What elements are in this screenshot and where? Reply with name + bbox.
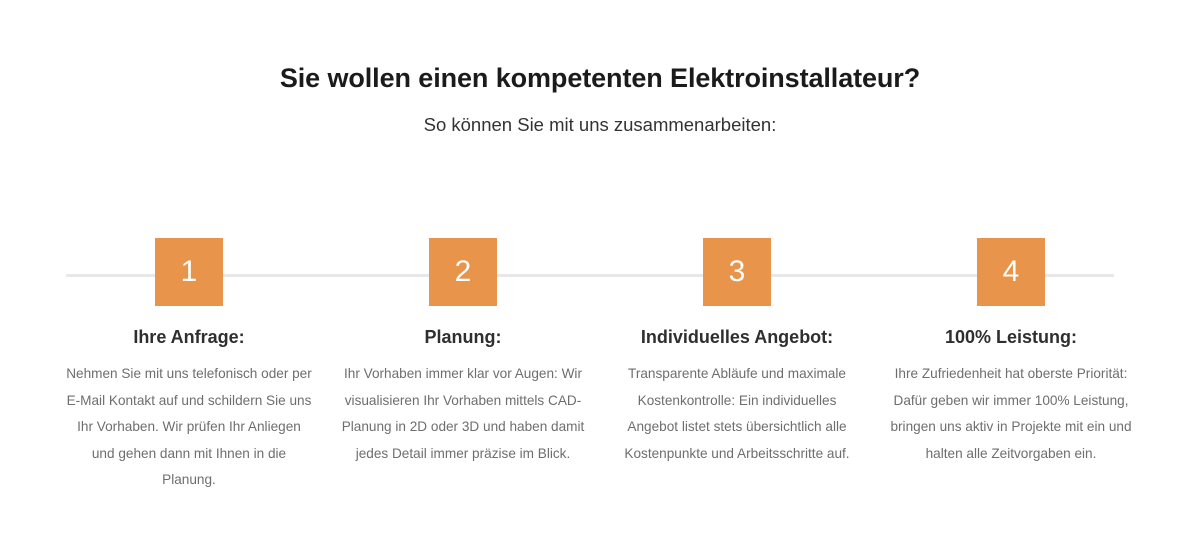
step-heading: Planung: <box>425 306 502 349</box>
step-number-badge-4: 4 <box>977 238 1045 306</box>
step-number-label: 1 <box>181 257 198 287</box>
process-section: Sie wollen einen kompetenten Elektroinst… <box>0 0 1200 537</box>
timeline-steps: 1 Ihre Anfrage: Nehmen Sie mit uns telef… <box>52 238 1148 494</box>
step-number-badge-3: 3 <box>703 238 771 306</box>
step-heading: Ihre Anfrage: <box>133 306 244 349</box>
step-description: Ihre Zufriedenheit hat oberste Priorität… <box>887 349 1135 467</box>
step-description: Ihr Vorhaben immer klar vor Augen: Wir v… <box>339 349 587 467</box>
page-title: Sie wollen einen kompetenten Elektroinst… <box>0 60 1200 96</box>
step-number-label: 3 <box>729 257 746 287</box>
timeline-step-1: 1 Ihre Anfrage: Nehmen Sie mit uns telef… <box>52 238 326 494</box>
step-number-badge-1: 1 <box>155 238 223 306</box>
timeline-step-4: 4 100% Leistung: Ihre Zufriedenheit hat … <box>874 238 1148 467</box>
timeline-step-2: 2 Planung: Ihr Vorhaben immer klar vor A… <box>326 238 600 467</box>
step-heading: 100% Leistung: <box>945 306 1077 349</box>
page-subtitle: So können Sie mit uns zusammenarbeiten: <box>0 96 1200 138</box>
step-description: Nehmen Sie mit uns telefonisch oder per … <box>65 349 313 494</box>
step-description: Transparente Abläufe und maximale Kosten… <box>613 349 861 467</box>
step-number-label: 2 <box>455 257 472 287</box>
step-number-badge-2: 2 <box>429 238 497 306</box>
section-header: Sie wollen einen kompetenten Elektroinst… <box>0 60 1200 138</box>
step-number-label: 4 <box>1003 257 1020 287</box>
timeline-step-3: 3 Individuelles Angebot: Transparente Ab… <box>600 238 874 467</box>
process-timeline: 1 Ihre Anfrage: Nehmen Sie mit uns telef… <box>0 238 1200 538</box>
step-heading: Individuelles Angebot: <box>641 306 833 349</box>
